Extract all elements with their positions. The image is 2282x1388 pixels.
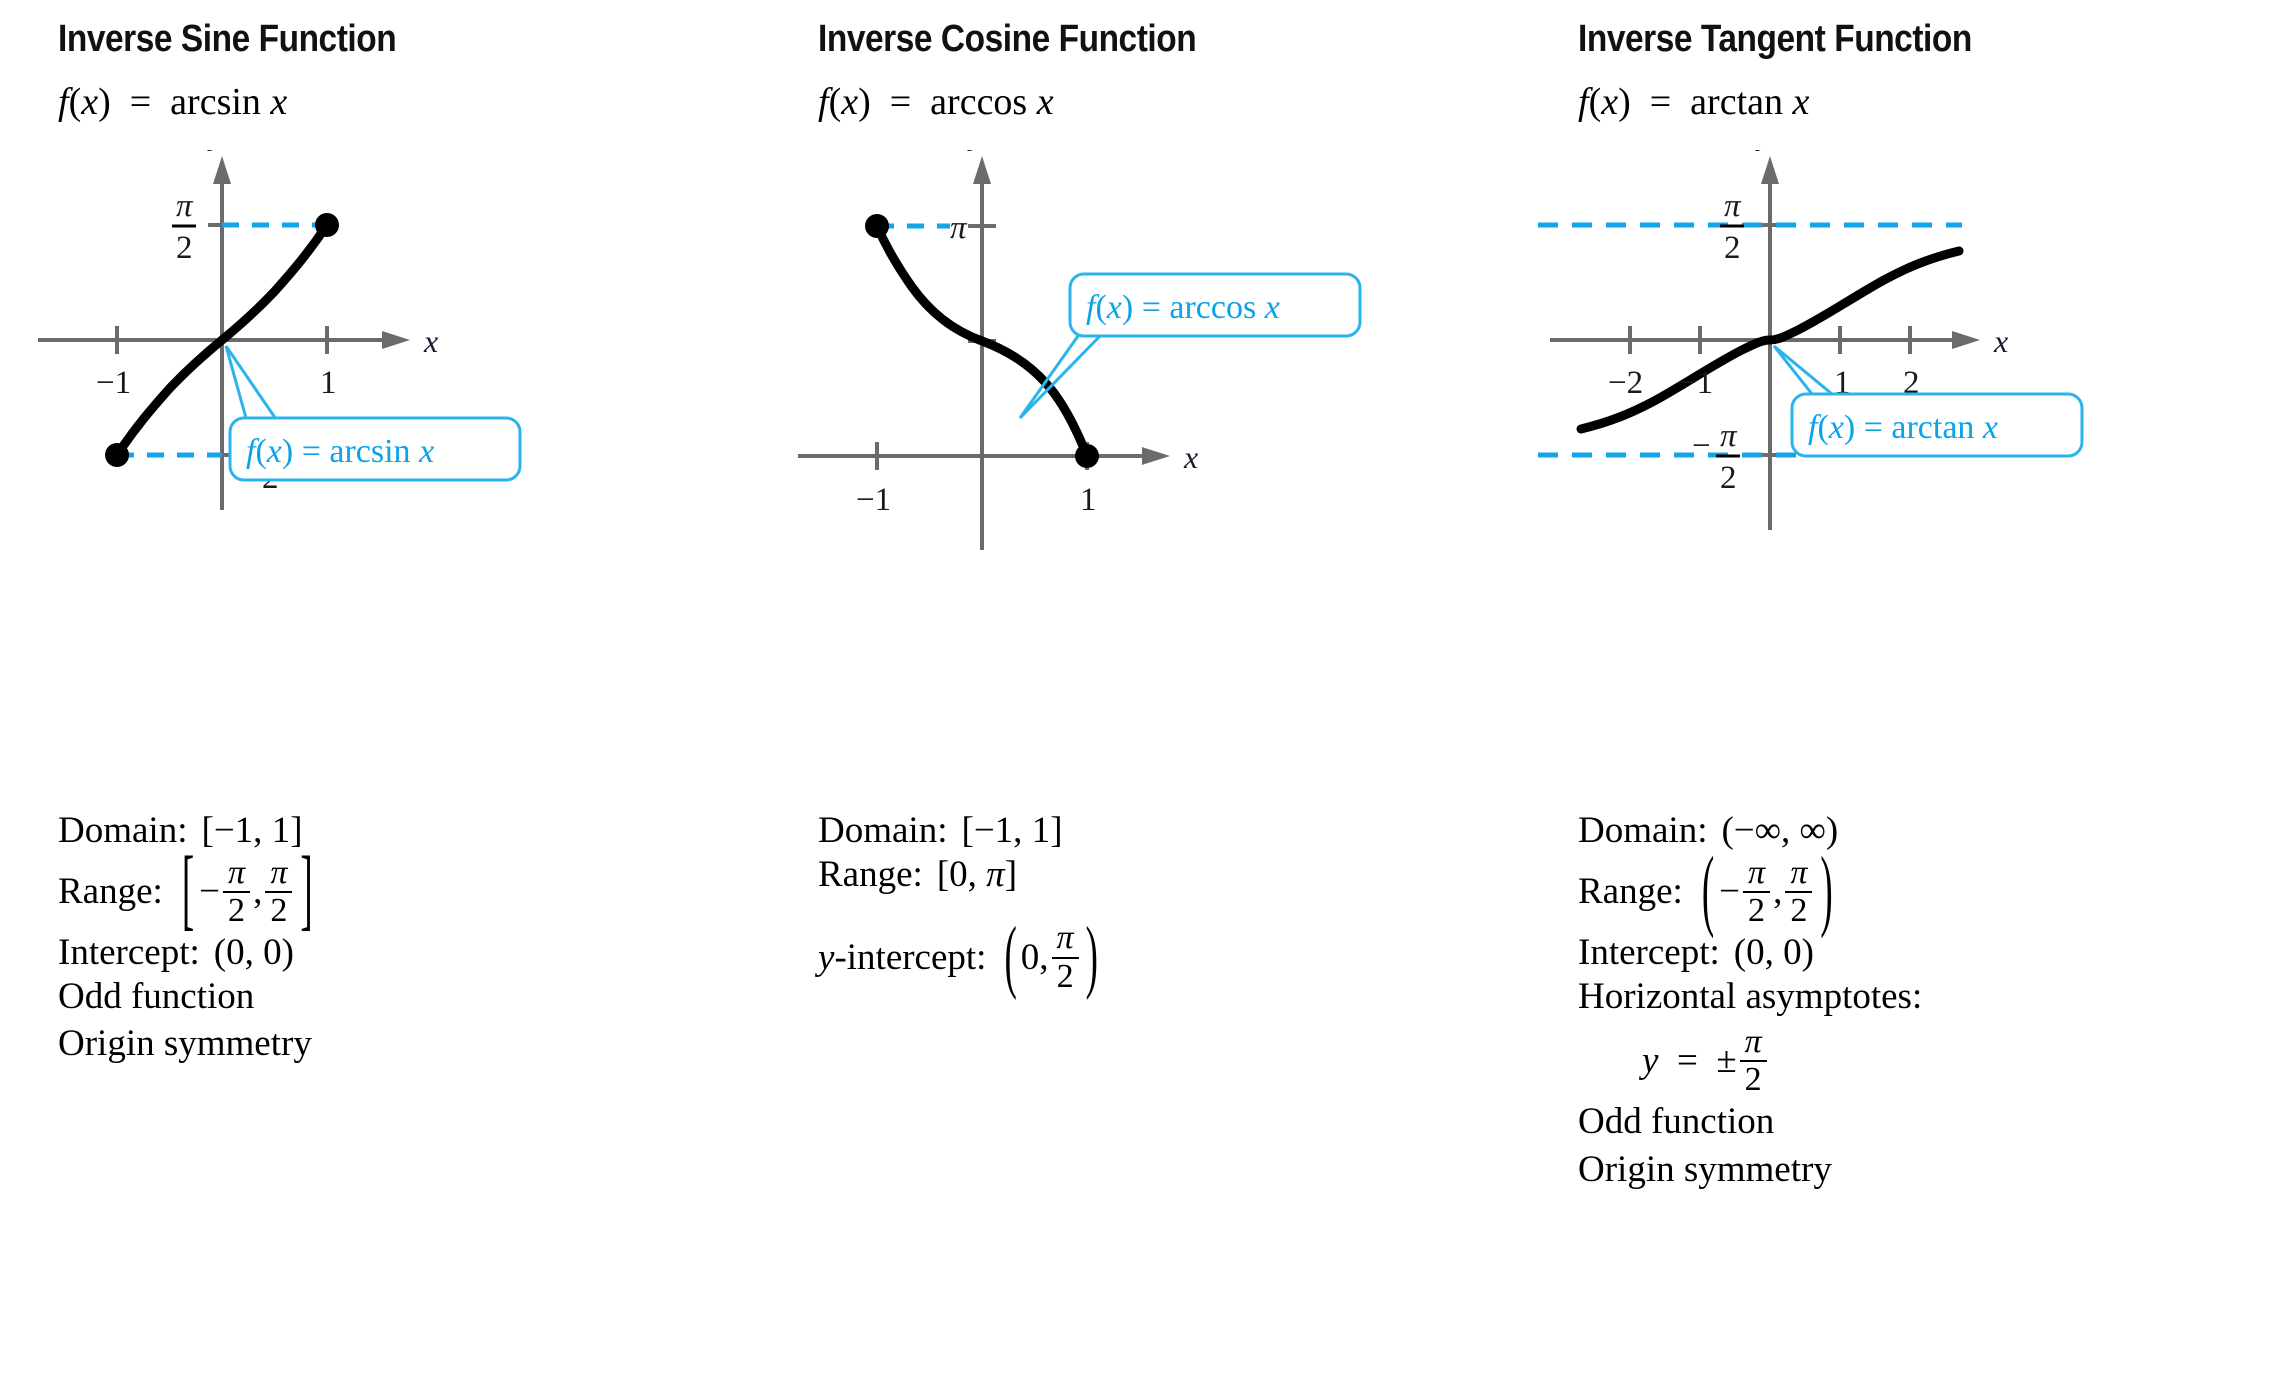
- x-axis-arrow: [1952, 331, 1980, 349]
- svg-text:π: π: [1724, 188, 1742, 224]
- fact-y-intercept-value: ( 0, π2 ): [1000, 921, 1101, 993]
- callout-leader-a: [1020, 336, 1078, 418]
- facts-arctan: Domain: (−∞, ∞) Range: ( − π2 , π2 ) Int…: [1578, 812, 2268, 1199]
- fact-odd-function: Odd function: [58, 978, 748, 1016]
- svg-text:2: 2: [1724, 230, 1741, 266]
- callout-leader-a: [226, 346, 278, 422]
- x-tick-label-neg1: −1: [1678, 365, 1713, 401]
- panel-inverse-tangent: Inverse Tangent Function f(x) = arctan x: [1520, 0, 2280, 1388]
- panel-title-inverse-cosine: Inverse Cosine Function: [818, 18, 1196, 61]
- fact-asymptote-equation: y = ± π2: [1578, 1025, 2268, 1097]
- y-tick-label-pi: π: [950, 210, 968, 246]
- endpoint-left-arccos: [865, 214, 889, 238]
- fact-domain-value: [−1, 1]: [961, 812, 1062, 850]
- fact-domain-value: [−1, 1]: [201, 812, 302, 850]
- y-axis-label: y: [207, 150, 225, 151]
- x-axis-label: x: [1183, 439, 1198, 475]
- graph-arctan: x y −2 −1 1 2 π 2 − π 2: [1520, 150, 2280, 570]
- fact-domain-label: Domain:: [58, 812, 187, 850]
- fact-range-label: Range:: [1578, 873, 1683, 911]
- y-tick-label-pi-over-2: π 2: [1720, 188, 1744, 266]
- svg-text:π: π: [1720, 418, 1738, 454]
- fact-intercept-value: (0, 0): [214, 934, 294, 972]
- fact-range-value: ( − π2 , π2 ): [1697, 856, 1838, 928]
- panel-inverse-sine: Inverse Sine Function f(x) = arcsin x: [0, 0, 760, 1388]
- x-axis-arrow: [1142, 447, 1170, 465]
- fact-y-intercept: y-intercept: ( 0, π2 ): [818, 921, 1508, 993]
- fact-range-value: [0, π]: [937, 856, 1017, 894]
- y-tick-label-neg-pi-over-2: − π 2: [1692, 418, 1740, 496]
- panel-equation-arccos: f(x) = arccos x: [818, 80, 1054, 124]
- fact-intercept: Intercept: (0, 0): [1578, 934, 2268, 972]
- callout-leader-b: [1774, 346, 1832, 394]
- endpoint-lower-arcsin: [105, 443, 129, 467]
- panel-equation-arcsin: f(x) = arcsin x: [58, 80, 287, 124]
- svg-text:2: 2: [1720, 460, 1737, 496]
- x-tick-label-neg2: −2: [1608, 365, 1643, 401]
- x-tick-label-pos1: 1: [1080, 482, 1097, 518]
- x-axis-label: x: [1993, 323, 2008, 359]
- fact-odd-function: Odd function: [1578, 1103, 2268, 1141]
- fact-origin-symmetry-text: Origin symmetry: [1578, 1151, 1832, 1189]
- fact-intercept-value: (0, 0): [1734, 934, 1814, 972]
- fact-intercept-label: Intercept:: [58, 934, 200, 972]
- fact-origin-symmetry: Origin symmetry: [1578, 1151, 2268, 1189]
- callout-leader-b: [226, 346, 246, 418]
- panel-title-inverse-sine: Inverse Sine Function: [58, 18, 396, 61]
- svg-text:π: π: [176, 188, 194, 224]
- fact-intercept: Intercept: (0, 0): [58, 934, 748, 972]
- fact-range: Range: ( − π2 , π2 ): [1578, 856, 2268, 928]
- panel-equation-arctan: f(x) = arctan x: [1578, 80, 1809, 124]
- fact-range-value: [ − π2 , π2 ]: [177, 856, 318, 928]
- fact-y-intercept-label: y-intercept:: [818, 939, 986, 977]
- fact-domain-label: Domain:: [818, 812, 947, 850]
- y-axis-label: y: [967, 150, 985, 151]
- y-axis-arrow: [1761, 156, 1779, 184]
- x-tick-label-pos1: 1: [320, 365, 337, 401]
- y-axis-label: y: [1755, 150, 1773, 151]
- fact-intercept-label: Intercept:: [1578, 934, 1720, 972]
- fact-domain-label: Domain:: [1578, 812, 1707, 850]
- x-tick-label-neg1: −1: [856, 482, 891, 518]
- fact-origin-symmetry-text: Origin symmetry: [58, 1025, 312, 1063]
- fact-domain: Domain: (−∞, ∞): [1578, 812, 2268, 850]
- facts-arcsin: Domain: [−1, 1] Range: [ − π2 , π2 ] Int…: [58, 812, 748, 1073]
- x-tick-label-neg1: −1: [96, 365, 131, 401]
- fact-range-label: Range:: [818, 856, 923, 894]
- svg-text:−: −: [1692, 428, 1711, 464]
- callout-label-arctan: f(x) = arctan x: [1808, 409, 1998, 446]
- graph-arcsin: x y −1 1 π 2 − π 2: [0, 150, 760, 570]
- fact-odd-function-text: Odd function: [1578, 1103, 1774, 1141]
- callout-label-arccos: f(x) = arccos x: [1086, 289, 1280, 326]
- fact-range: Range: [0, π]: [818, 856, 1508, 894]
- callout-label-arcsin: f(x) = arcsin x: [246, 433, 434, 470]
- y-tick-label-pi-over-2: π 2: [172, 188, 196, 266]
- y-axis-arrow: [213, 156, 231, 184]
- svg-text:2: 2: [176, 230, 193, 266]
- fact-domain: Domain: [−1, 1]: [58, 812, 748, 850]
- fact-odd-function-text: Odd function: [58, 978, 254, 1016]
- endpoint-upper-arcsin: [315, 213, 339, 237]
- inverse-trig-functions-figure: Inverse Sine Function f(x) = arcsin x: [0, 0, 2282, 1388]
- x-axis-label: x: [423, 323, 438, 359]
- endpoint-right-arccos: [1075, 444, 1099, 468]
- x-axis-arrow: [382, 331, 410, 349]
- fact-domain: Domain: [−1, 1]: [818, 812, 1508, 850]
- y-axis-arrow: [973, 156, 991, 184]
- fact-origin-symmetry: Origin symmetry: [58, 1025, 748, 1063]
- fact-asymptote-label: Horizontal asymptotes:: [1578, 978, 1922, 1016]
- panel-inverse-cosine: Inverse Cosine Function f(x) = arccos x: [760, 0, 1520, 1388]
- callout-leader-a: [1774, 346, 1812, 394]
- panel-title-inverse-tangent: Inverse Tangent Function: [1578, 18, 1972, 61]
- fact-range-label: Range:: [58, 873, 163, 911]
- facts-arccos: Domain: [−1, 1] Range: [0, π] y-intercep…: [818, 812, 1508, 1000]
- fact-range: Range: [ − π2 , π2 ]: [58, 856, 748, 928]
- fact-asymptote-label-row: Horizontal asymptotes:: [1578, 978, 2268, 1016]
- graph-arccos: x y −1 1 π f(x) = arccos x: [760, 150, 1520, 570]
